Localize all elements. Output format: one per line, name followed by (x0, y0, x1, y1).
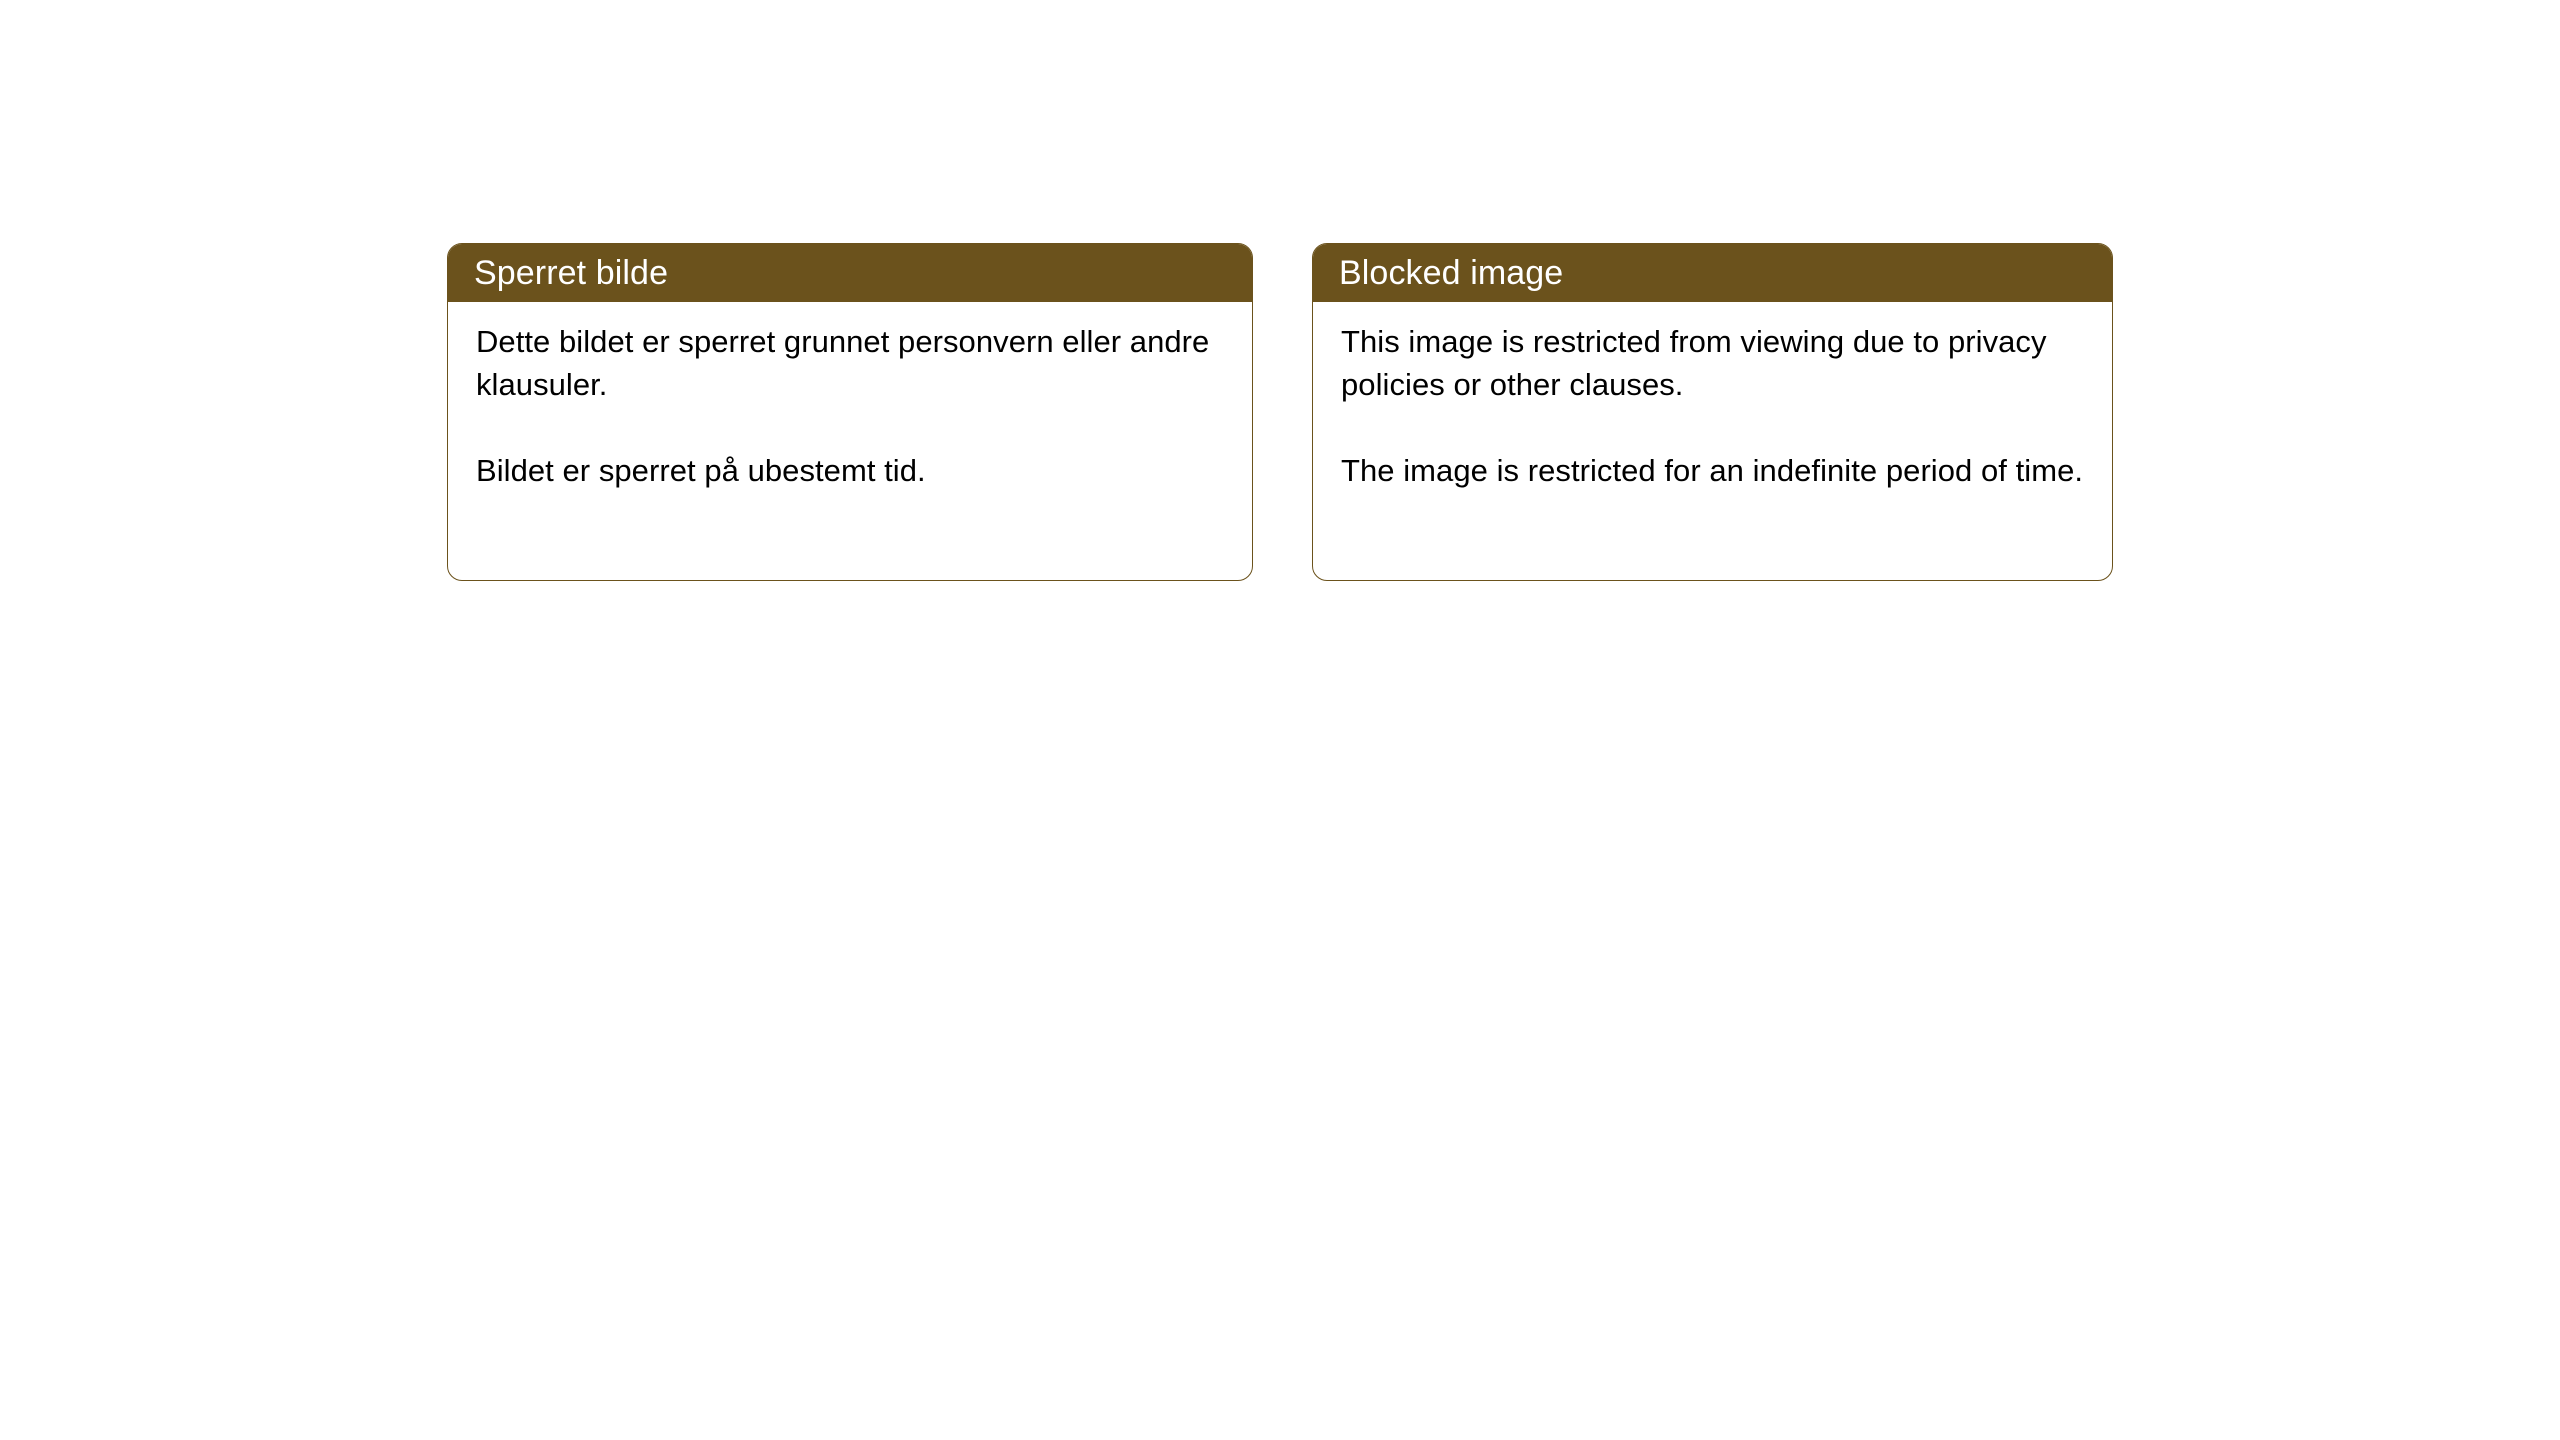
blocked-image-notice-card-no: Sperret bilde Dette bildet er sperret gr… (447, 243, 1253, 581)
card-paragraph-duration-no: Bildet er sperret på ubestemt tid. (476, 449, 1228, 492)
card-header-en: Blocked image (1313, 244, 2112, 302)
card-paragraph-duration-en: The image is restricted for an indefinit… (1341, 449, 2088, 492)
blocked-image-notice-card-en: Blocked image This image is restricted f… (1312, 243, 2113, 581)
card-title-en: Blocked image (1339, 254, 1563, 292)
card-paragraph-reason-en: This image is restricted from viewing du… (1341, 320, 2088, 406)
card-body-no: Dette bildet er sperret grunnet personve… (448, 302, 1252, 492)
card-paragraph-reason-no: Dette bildet er sperret grunnet personve… (476, 320, 1228, 406)
card-title-no: Sperret bilde (474, 254, 668, 292)
card-header-no: Sperret bilde (448, 244, 1252, 302)
page-canvas: Sperret bilde Dette bildet er sperret gr… (0, 0, 2560, 1440)
card-body-en: This image is restricted from viewing du… (1313, 302, 2112, 492)
